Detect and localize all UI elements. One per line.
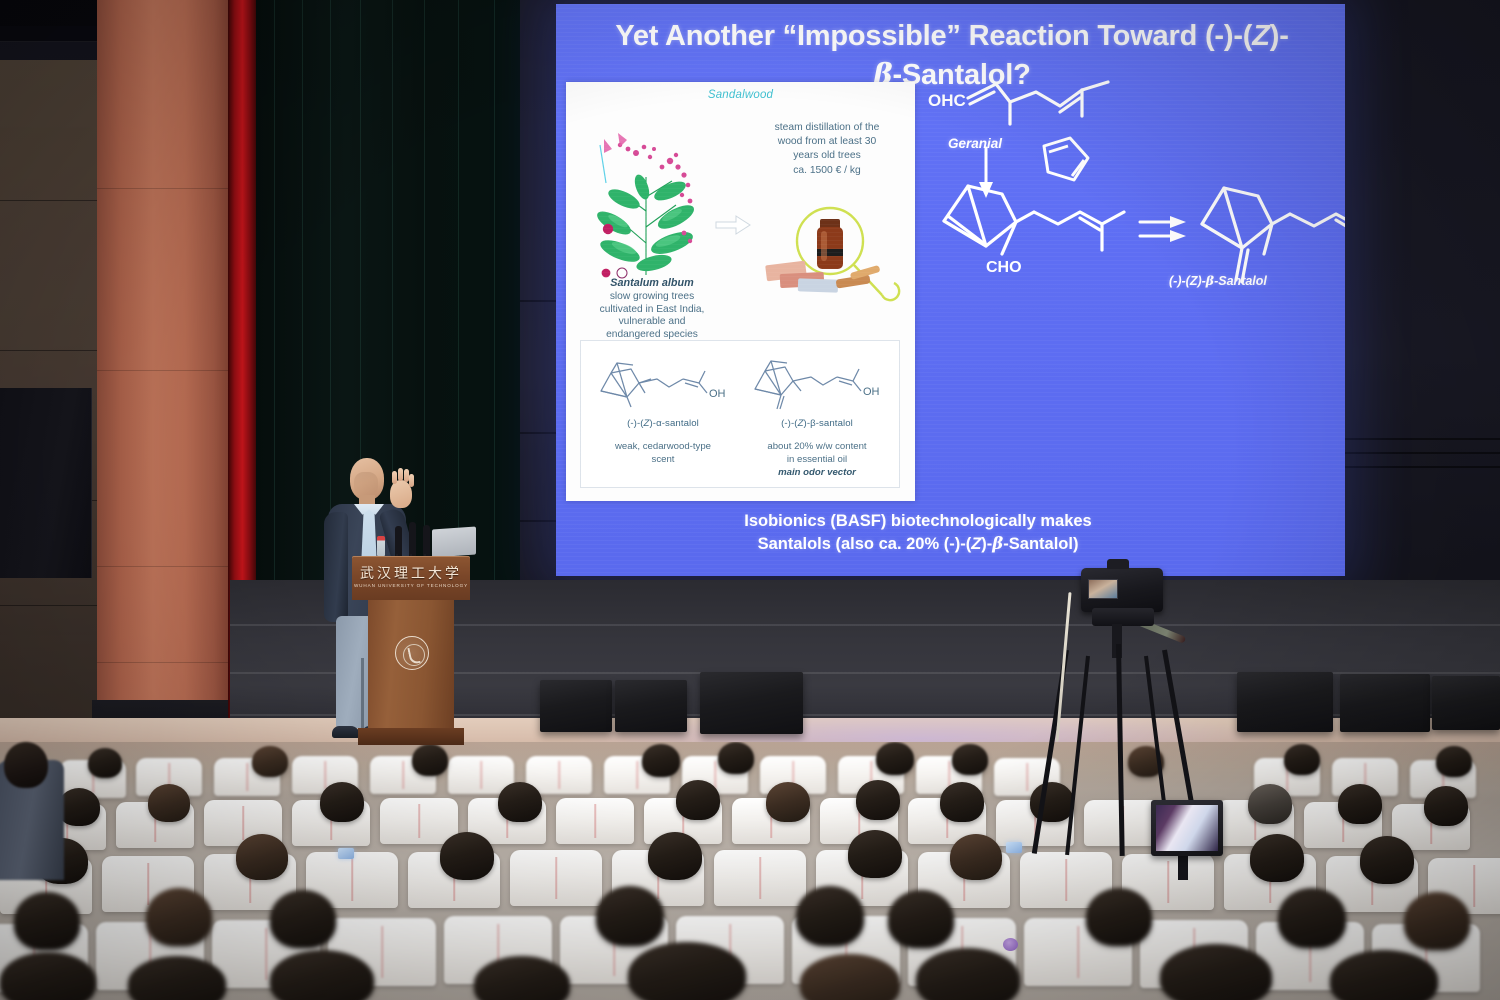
product-label-mid: )- [1197,274,1205,288]
audience-head [1338,784,1382,824]
sandalwood-plant-illustration [584,123,716,283]
beta-oh-label: OH [863,386,880,398]
audience-accessory [1003,938,1018,951]
audience-head [412,744,448,776]
beta-santalol-structure-icon: OH [741,349,893,411]
audience-head [498,782,542,822]
beta-santalol-description: about 20% w/w content in essential oil m… [741,441,893,480]
audience-head [270,890,336,948]
audience-area [0,742,1500,1000]
audience-head [718,742,754,774]
alpha-oh-label: OH [709,388,726,400]
field-monitor-stand [1178,856,1188,880]
stage-monitor-speaker [1340,674,1430,732]
audience-head [676,780,720,820]
microphone [409,522,416,556]
beta-desc-3: main odor vector [778,467,856,478]
audience-head [950,834,1002,880]
audience-head [888,890,954,948]
alpha-desc-2: scent [652,454,675,465]
alpha-name-post: )-α-santalol [650,418,699,429]
alpha-santalol-description: weak, cedarwood-type scent [587,441,739,467]
presenter-raised-hand [390,480,412,508]
audience-head [1284,744,1320,775]
presenter-face [354,472,378,496]
audience-head [252,746,288,777]
audience-head [628,942,746,1000]
audience-head [1278,888,1346,948]
geranial-label: Geranial [948,136,1002,151]
hall-column [97,0,230,720]
ceiling-soffit-upper [0,0,112,26]
lectern: 武汉理工大学 WUHAN UNIVERSITY OF TECHNOLOGY [352,556,470,746]
audience-head [1250,834,1304,882]
product-label: (-)-(Z)-β-Santalol [1169,273,1267,288]
audience-head [236,834,288,880]
slide-white-panel: Sandalwood [566,82,915,501]
lectern-base [358,728,464,745]
seat [714,850,806,906]
beta-name-post: )-β-santalol [804,418,853,429]
audience-head [1424,786,1468,826]
slide-footer: Isobionics (BASF) biotechnologically mak… [568,510,1268,556]
camera-viewfinder [1107,559,1129,569]
audience-head [1404,892,1470,950]
essential-oil-bottle-illustration [754,197,904,309]
video-camera [1081,568,1163,612]
audience-head [440,832,494,880]
alpha-santalol-structure-icon: OH [587,349,739,411]
audience-head [796,886,864,946]
lectern-front-panel: 武汉理工大学 WUHAN UNIVERSITY OF TECHNOLOGY [352,556,470,600]
audience-head [1360,836,1414,884]
slide-title-part2: )- [1270,20,1289,52]
alpha-santalol-block: OH (-)-(Z)-α-santalol weak, cedarwood-ty… [587,349,739,467]
audience-head [1436,746,1472,777]
presenter-laptop [432,526,476,557]
reaction-scheme: OHC [924,76,1339,326]
audience-head [1160,944,1272,1000]
audience-head [1086,888,1152,946]
alpha-santalol-name: (-)-(Z)-α-santalol [587,418,739,429]
beta-santalol-block: OH (-)-(Z)-β-santalol about 20% w/w cont… [741,349,893,480]
distillation-line-1: steam distillation of the [775,122,880,133]
field-monitor-screen [1156,805,1218,851]
audience-head [848,830,902,878]
plant-desc-2: cultivated in East India, [600,304,705,315]
ohc-label: OHC [928,91,966,110]
distillation-caption: steam distillation of the wood from at l… [748,121,906,178]
water-bottle [377,536,385,556]
phone-screen [1006,842,1022,853]
audience-head [320,782,364,822]
plant-desc-1: slow growing trees [610,291,694,302]
process-arrow-icon [714,213,752,237]
product-label-post: -Santalol [1214,274,1267,288]
slide-footer-line-2c: -Santalol) [1003,535,1078,553]
audience-head [1248,784,1292,824]
beta-desc-1: about 20% w/w content [767,441,866,452]
audience-head [856,780,900,820]
distillation-line-2: wood from at least 30 [778,136,876,147]
slide-title-part1: Yet Another “Impossible” Reaction Toward… [615,20,1252,52]
audience-head [148,784,190,822]
university-name-chinese: 武汉理工大学 [352,563,470,583]
tripod-head [1092,608,1154,626]
presenter-left-arm [324,512,348,622]
panel-top-section: Santalum album slow growing trees cultiv… [566,101,915,353]
field-monitor [1151,800,1223,856]
beta-santalol-name: (-)-(Z)-β-santalol [741,418,893,429]
tripod-leg [1116,644,1125,856]
distillation-line-4: ca. 1500 € / kg [793,165,861,176]
alpha-name-pre: (-)-( [627,418,643,429]
audience-head [596,886,664,946]
slide-footer-line-1: Isobionics (BASF) biotechnologically mak… [744,512,1091,530]
plant-species-name: Santalum album [610,277,693,289]
wall-speaker-left [0,388,92,578]
audience-head [58,788,100,826]
plant-desc-3: vulnerable and [619,316,686,327]
audience-head [766,782,810,822]
panel-heading: Sandalwood [566,82,915,101]
beta-name-pre: (-)-( [781,418,797,429]
product-label-beta: β [1206,273,1214,288]
camera-cable [1055,592,1071,742]
audience-head [642,744,680,777]
projection-screen: Yet Another “Impossible” Reaction Toward… [556,4,1345,576]
slide-footer-z: Z [971,535,981,553]
alpha-desc-1: weak, cedarwood-type [615,441,711,452]
university-logo-icon [395,636,429,670]
seat [510,850,602,906]
santalol-structures-box: OH (-)-(Z)-α-santalol weak, cedarwood-ty… [580,340,900,488]
slide-footer-line-2a: Santalols (also ca. 20% (-)-( [758,535,972,553]
audience-head [940,782,984,822]
audience-head [146,888,212,946]
audience-head [648,832,702,880]
slide-footer-line-2b: )- [981,535,992,553]
phone-screen [338,848,354,859]
slide-footer-beta: β [992,534,1003,553]
stage-monitor-speaker [615,680,687,732]
tripod-leg [1065,656,1090,855]
stage-monitor-speaker [1237,672,1333,732]
microphone [423,525,430,556]
product-label-pre: (-)-( [1169,274,1190,288]
side-attendee-head [4,742,48,788]
camera-lcd-screen [1088,579,1118,599]
beta-desc-2: in essential oil [787,454,847,465]
plant-desc-4: endangered species [606,329,698,340]
audience-head [876,742,914,775]
slide-title-z: Z [1252,20,1270,52]
microphone [395,526,402,556]
distillation-line-3: years old trees [793,150,861,161]
cho-label: CHO [986,259,1022,276]
seat [556,798,634,844]
lecture-hall-photo: Yet Another “Impossible” Reaction Toward… [0,0,1500,1000]
stage-monitor-speaker [1432,676,1500,730]
audience-head [14,892,80,950]
stage-monitor-speaker [540,680,612,732]
stage-monitor-speaker [700,672,803,734]
seat [380,798,458,844]
audience-head [88,748,122,778]
audience-head [952,744,988,775]
university-name-english: WUHAN UNIVERSITY OF TECHNOLOGY [352,583,470,588]
